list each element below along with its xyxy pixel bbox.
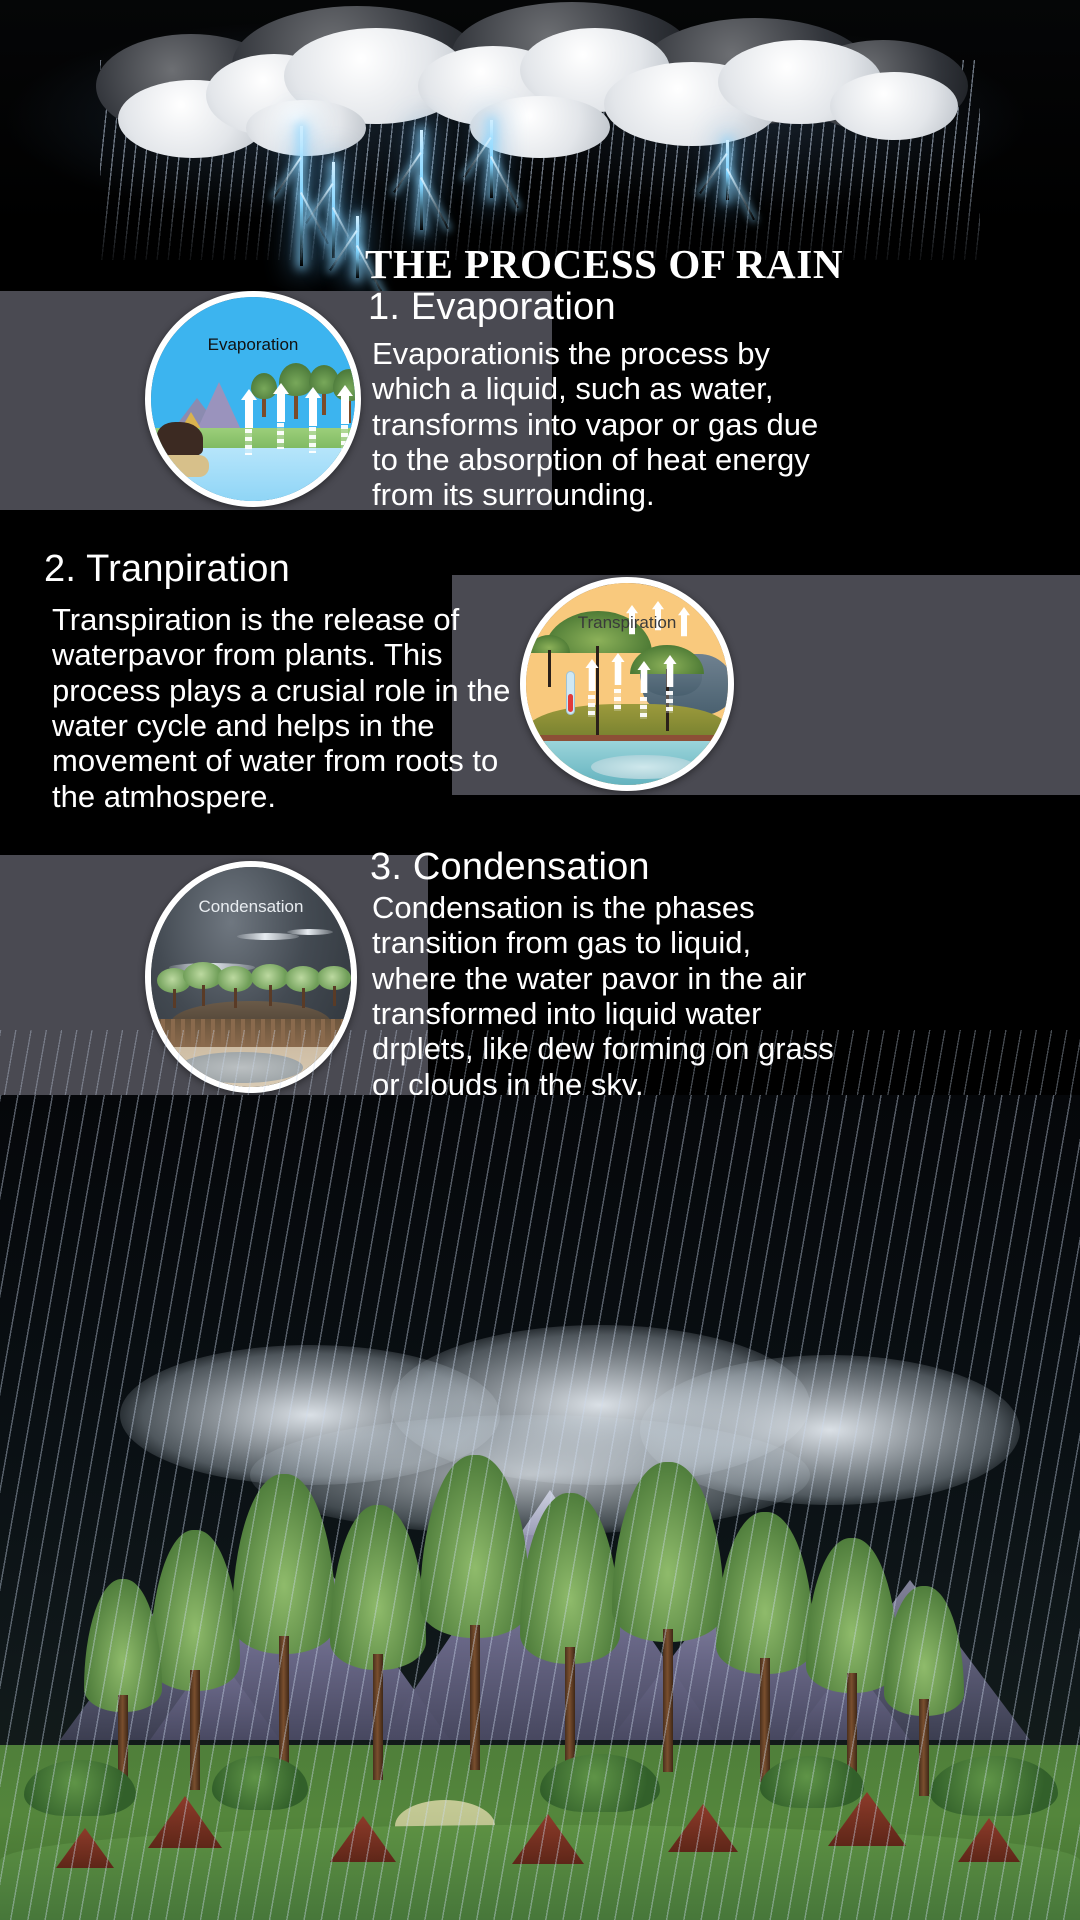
tree-shape xyxy=(217,966,253,1008)
section-1-body: Evaporationis the process by which a liq… xyxy=(372,336,832,513)
lightning-bolt-icon xyxy=(420,130,423,230)
shore-shape xyxy=(155,455,209,477)
rain-streaks-landscape xyxy=(0,1095,1080,1920)
vapor-squiggle xyxy=(614,689,621,711)
evaporation-label: Evaporation xyxy=(151,335,355,355)
vapor-squiggle xyxy=(277,423,284,449)
vapor-squiggle xyxy=(309,427,316,453)
thermometer-icon xyxy=(566,671,575,715)
lightning-bolt-icon xyxy=(490,120,493,198)
vapor-squiggle xyxy=(588,695,595,717)
section-2-heading: 2. Tranpiration xyxy=(44,548,564,591)
tree-shape xyxy=(251,964,289,1006)
lightning-bolt-icon xyxy=(356,216,359,278)
transpiration-illustration: Transpiration xyxy=(520,577,734,791)
tree-shape xyxy=(528,635,570,687)
section-3-heading: 3. Condensation xyxy=(370,846,930,889)
animal-silhouette xyxy=(157,422,203,456)
cloud-wisp xyxy=(237,933,299,940)
lightning-bolt-icon xyxy=(726,140,729,200)
rain-streaks-mid xyxy=(0,1030,1080,1096)
cloud-wisp xyxy=(287,929,333,935)
page-title: THE PROCESS OF RAIN xyxy=(365,240,1065,288)
transpiration-label: Transpiration xyxy=(526,613,728,633)
vapor-squiggle xyxy=(341,425,348,451)
vapor-squiggle xyxy=(245,429,252,455)
lightning-bolt-icon xyxy=(300,126,303,266)
condensation-label: Condensation xyxy=(151,897,351,917)
vapor-squiggle xyxy=(666,691,673,713)
section-2-body: Transpiration is the release of waterpav… xyxy=(52,602,512,814)
tree-shape xyxy=(317,966,351,1006)
section-1-heading: 1. Evaporation xyxy=(368,286,1028,329)
vapor-squiggle xyxy=(640,697,647,719)
cloud-light xyxy=(830,72,958,140)
tree-shape xyxy=(285,966,321,1008)
lightning-bolt-icon xyxy=(332,162,335,258)
evaporation-illustration: Evaporation xyxy=(145,291,361,507)
water-highlight xyxy=(591,755,696,779)
poster-canvas: THE PROCESS OF RAIN 1. Evaporation Evapo… xyxy=(0,0,1080,1920)
cloud-light xyxy=(246,100,366,156)
rainy-forest-landscape xyxy=(0,1095,1080,1920)
